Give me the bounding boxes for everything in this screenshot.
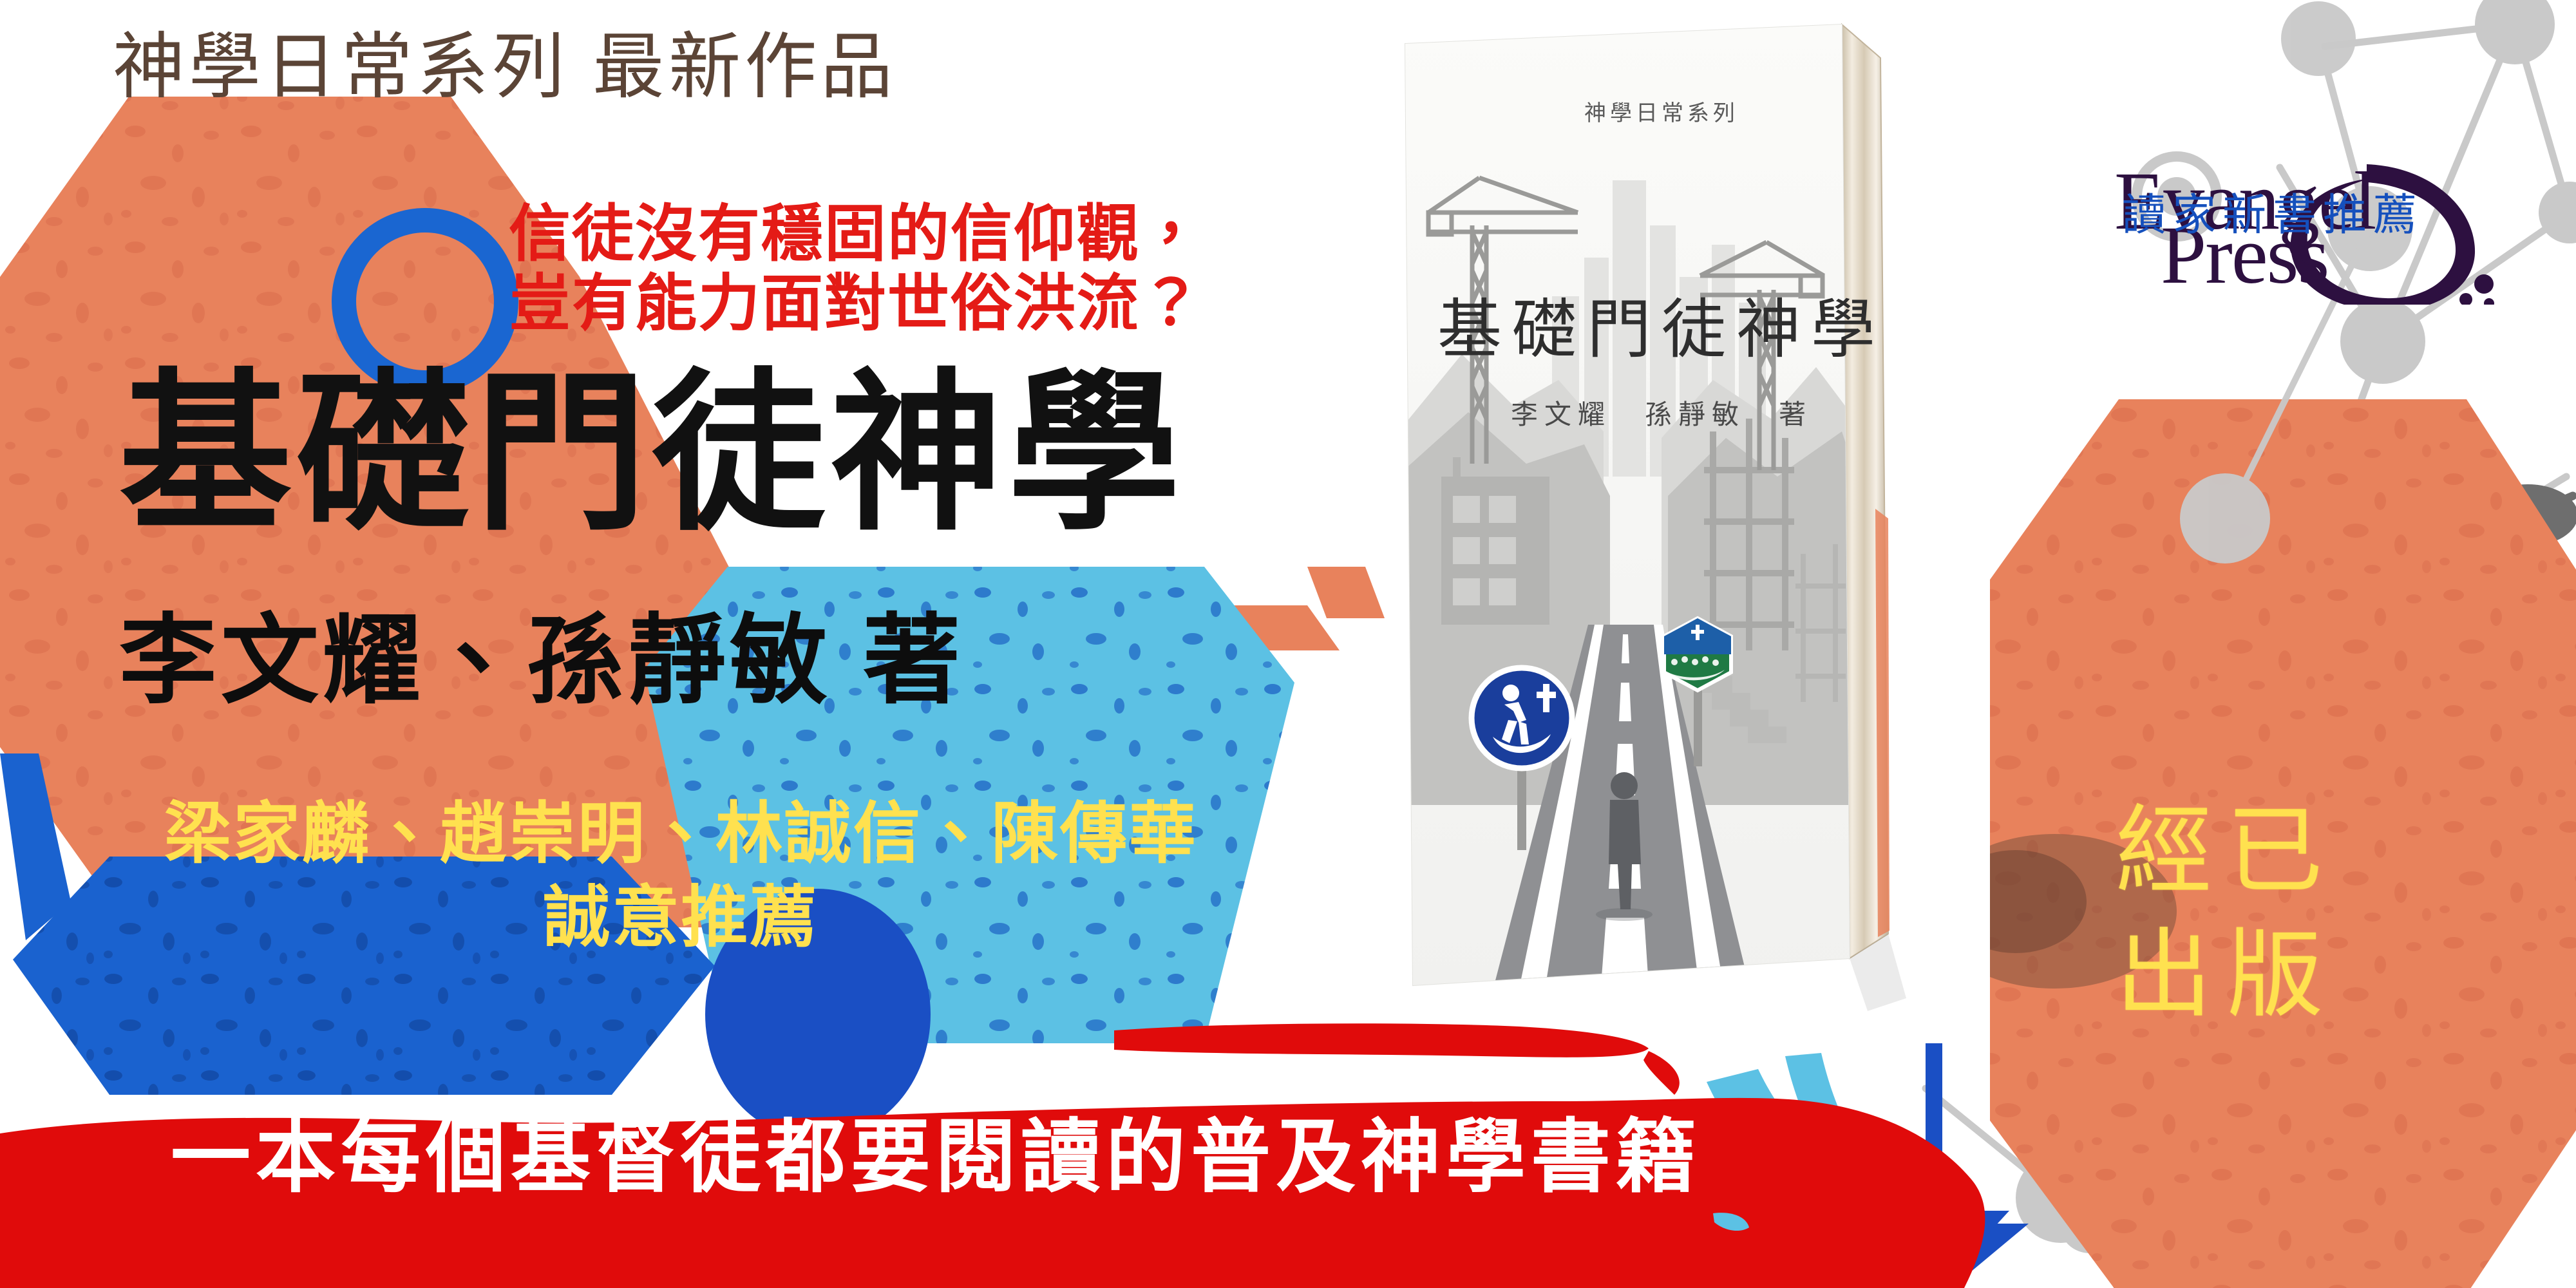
endorsers-line-1: 梁家麟、趙崇明、林誠信、陳傳華 bbox=[164, 797, 1198, 871]
authors-line: 李文耀、孫靜敏 著 bbox=[119, 612, 964, 710]
published-badge-line-1: 經已 bbox=[2116, 789, 2337, 913]
hook-line: 信徒沒有穩固的信仰觀， 豈有能力面對世俗洪流？ bbox=[509, 200, 1203, 338]
published-badge-line-2: 出版 bbox=[2116, 913, 2337, 1036]
endorsers-block: 梁家麟、趙崇明、林誠信、陳傳華誠意推薦 bbox=[164, 792, 1198, 960]
book-3d-svg bbox=[1391, 19, 1932, 1024]
cyan-swoosh bbox=[1707, 1069, 1903, 1246]
orange-edge-right bbox=[1307, 567, 1385, 618]
main-title: 基礎門徒神學 bbox=[119, 367, 1186, 540]
endorsers-line-2: 誠意推薦 bbox=[164, 876, 1198, 960]
promo-banner: 神學日常系列 基礎門徒神學 李文耀 孫靜敏 著 Evangel Press 讀家… bbox=[0, 0, 2576, 1288]
book-cover-title: 基礎門徒神學 bbox=[1437, 277, 1886, 370]
hook-line-1: 信徒沒有穩固的信仰觀， bbox=[509, 200, 1203, 269]
book-cover-authors: 李文耀 孫靜敏 著 bbox=[1511, 393, 1812, 432]
hook-line-2: 豈有能力面對世俗洪流？ bbox=[509, 269, 1203, 338]
published-badge: 經已出版 bbox=[2116, 789, 2337, 1036]
book-cover-series-label: 神學日常系列 bbox=[1584, 95, 1739, 127]
orange-bar-under-title bbox=[914, 605, 1340, 650]
bottom-strapline: 一本每個基督徒都要閱讀的普及神學書籍 bbox=[171, 1117, 1701, 1197]
blue-triangle-bottom bbox=[1797, 1224, 2029, 1288]
series-label: 神學日常系列 最新作品 bbox=[113, 31, 896, 103]
recommend-label: 讀家新書推薦 bbox=[2122, 193, 2423, 237]
book-mockup: 神學日常系列 基礎門徒神學 李文耀 孫靜敏 著 bbox=[1391, 19, 1932, 1024]
blue-vertical-bar bbox=[1926, 1043, 1942, 1217]
